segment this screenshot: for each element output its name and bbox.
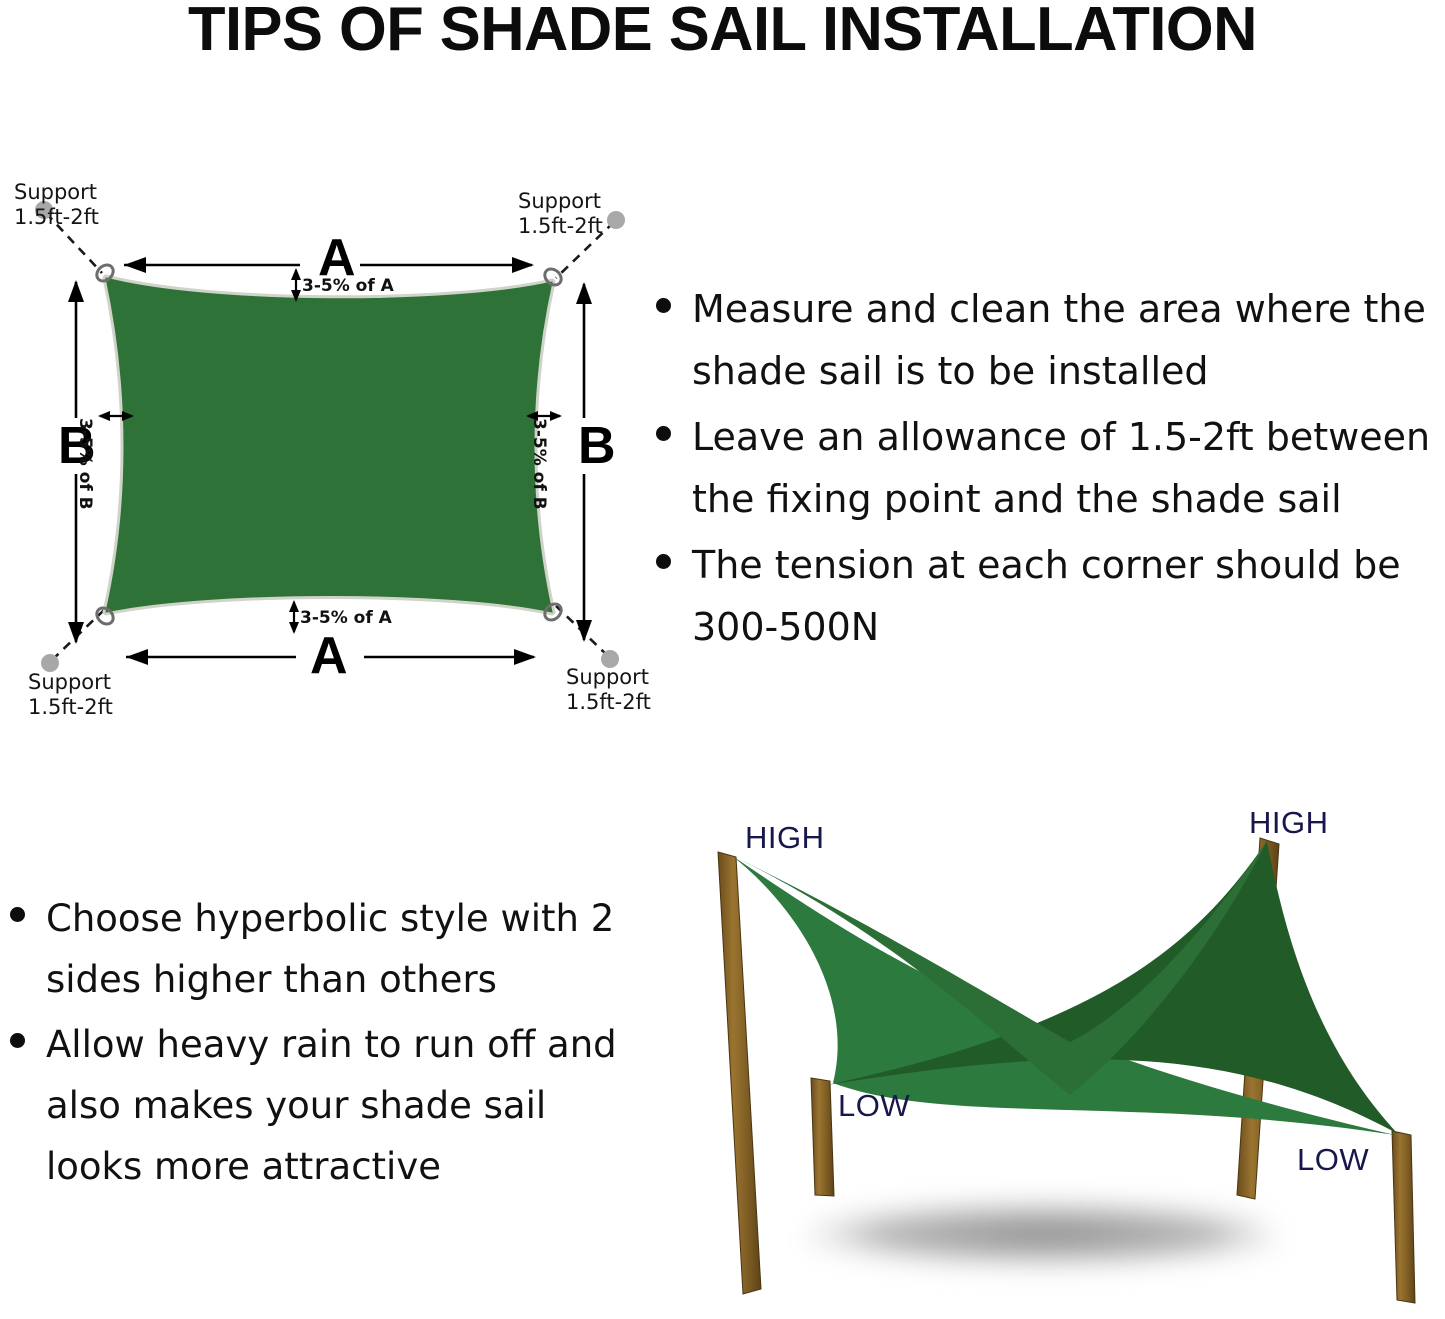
arrowhead xyxy=(576,620,592,642)
label-high-right: HIGH xyxy=(1249,805,1329,841)
sail-body-outline xyxy=(106,278,552,612)
support-label-line1: Support xyxy=(566,665,651,690)
post-front-left xyxy=(811,1078,834,1196)
bullet-dot-icon xyxy=(10,1033,25,1048)
bullet-dot-icon xyxy=(656,554,671,569)
support-label-bottom-right: Support 1.5ft-2ft xyxy=(566,665,651,715)
tip-text: The tension at each corner should be 300… xyxy=(692,543,1401,649)
arrowhead xyxy=(98,411,110,421)
support-label-bottom-left: Support 1.5ft-2ft xyxy=(28,670,113,720)
arrowhead xyxy=(576,282,592,304)
arrowhead xyxy=(514,649,536,665)
support-label-top-right: Support 1.5ft-2ft xyxy=(518,189,603,239)
post-front-right xyxy=(1392,1131,1415,1303)
list-item: Measure and clean the area where the sha… xyxy=(646,278,1445,402)
dimension-letter-b-right: B xyxy=(578,420,616,472)
page-title: TIPS OF SHADE SAIL INSTALLATION xyxy=(7,0,1438,65)
bullet-dot-icon xyxy=(656,426,671,441)
arrowhead xyxy=(68,280,84,302)
list-item: Leave an allowance of 1.5-2ft between th… xyxy=(646,406,1445,530)
support-label-line2: 1.5ft-2ft xyxy=(566,690,651,715)
list-item: The tension at each corner should be 300… xyxy=(646,534,1445,658)
arrowhead xyxy=(289,600,299,612)
support-label-line2: 1.5ft-2ft xyxy=(14,205,99,230)
support-label-line2: 1.5ft-2ft xyxy=(518,214,603,239)
arrowhead xyxy=(124,257,146,273)
installation-tips-list-bottom: Choose hyperbolic style with 2 sides hig… xyxy=(0,888,620,1201)
support-label-line1: Support xyxy=(28,670,113,695)
allowance-label-a-bottom: 3-5% of A xyxy=(300,608,392,628)
arrowhead xyxy=(126,649,148,665)
support-label-line2: 1.5ft-2ft xyxy=(28,695,113,720)
allowance-label-b-left: 3-5% of B xyxy=(75,418,95,510)
bullet-dot-icon xyxy=(10,907,25,922)
arrowhead xyxy=(512,257,534,273)
tip-text: Measure and clean the area where the sha… xyxy=(692,287,1426,393)
arrowhead xyxy=(291,268,301,280)
label-low-right: LOW xyxy=(1297,1142,1369,1178)
support-label-top-left: Support 1.5ft-2ft xyxy=(14,180,99,230)
installation-tips-list-top: Measure and clean the area where the sha… xyxy=(646,278,1445,662)
label-high-left: HIGH xyxy=(745,820,825,856)
label-low-left: LOW xyxy=(838,1088,910,1124)
hyperbolic-sail-illustration xyxy=(675,795,1445,1319)
arrowhead xyxy=(550,411,562,421)
allowance-label-b-right: 3-5% of B xyxy=(529,418,549,510)
ground-shadow xyxy=(775,1199,1315,1269)
post-back-left xyxy=(718,852,761,1294)
tip-text: Leave an allowance of 1.5-2ft between th… xyxy=(692,415,1430,521)
dimension-letter-a-bottom: A xyxy=(310,630,348,682)
allowance-label-a-top: 3-5% of A xyxy=(302,276,394,296)
tip-text: Allow heavy rain to run off and also mak… xyxy=(46,1023,617,1188)
bullet-dot-icon xyxy=(656,298,671,313)
support-label-line1: Support xyxy=(518,189,603,214)
support-label-line1: Support xyxy=(14,180,99,205)
arrowhead xyxy=(289,622,299,634)
tip-text: Choose hyperbolic style with 2 sides hig… xyxy=(46,897,614,1001)
list-item: Allow heavy rain to run off and also mak… xyxy=(0,1014,620,1197)
list-item: Choose hyperbolic style with 2 sides hig… xyxy=(0,888,620,1010)
